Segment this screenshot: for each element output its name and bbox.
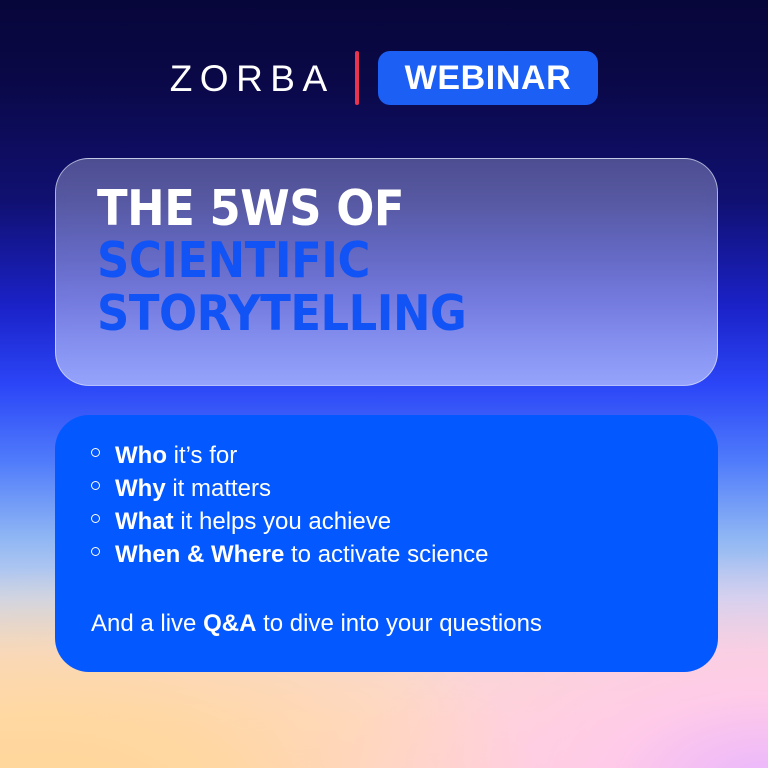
closing-note: And a live Q&A to dive into your questio… [91,607,542,640]
closing-before: And a live [91,610,203,637]
title-line-3: STORYTELLING [97,290,651,338]
hollow-circle-bullet-icon [91,448,100,457]
brand-header: ZORBA WEBINAR [0,48,768,108]
list-item-text: Who it’s for [115,439,237,472]
list-item-rest: it helps you achieve [174,508,391,535]
list-item-text: Why it matters [115,472,271,505]
webinar-badge: WEBINAR [378,51,599,105]
list-item: Who it’s for [91,439,488,472]
list-item-rest: it’s for [167,442,237,469]
list-item-rest: to activate science [284,541,488,568]
title-line-2: SCIENTIFIC [97,237,651,285]
list-item-rest: it matters [166,475,271,502]
brand-wordmark: ZORBA [170,60,355,97]
agenda-bullet-list: Who it’s for Why it matters What it help… [91,439,488,571]
hollow-circle-bullet-icon [91,481,100,490]
title-glass-card: THE 5WS OF SCIENTIFIC STORYTELLING [55,158,718,386]
list-item: What it helps you achieve [91,505,488,538]
vertical-red-divider-icon [355,51,359,105]
list-item-strong: What [115,508,174,535]
page-title: THE 5WS OF SCIENTIFIC STORYTELLING [97,185,703,338]
closing-emphasis: Q&A [203,610,256,637]
list-item-text: What it helps you achieve [115,505,391,538]
title-line-1: THE 5WS OF [97,185,651,233]
list-item-strong: When & Where [115,541,284,568]
closing-after: to dive into your questions [256,610,542,637]
webinar-poster: ZORBA WEBINAR THE 5WS OF SCIENTIFIC STOR… [0,0,768,768]
agenda-card: Who it’s for Why it matters What it help… [55,415,718,672]
hollow-circle-bullet-icon [91,547,100,556]
list-item-text: When & Where to activate science [115,538,488,571]
list-item-strong: Why [115,475,166,502]
webinar-badge-label: WEBINAR [405,61,572,95]
list-item-strong: Who [115,442,167,469]
list-item: Why it matters [91,472,488,505]
list-item: When & Where to activate science [91,538,488,571]
hollow-circle-bullet-icon [91,514,100,523]
